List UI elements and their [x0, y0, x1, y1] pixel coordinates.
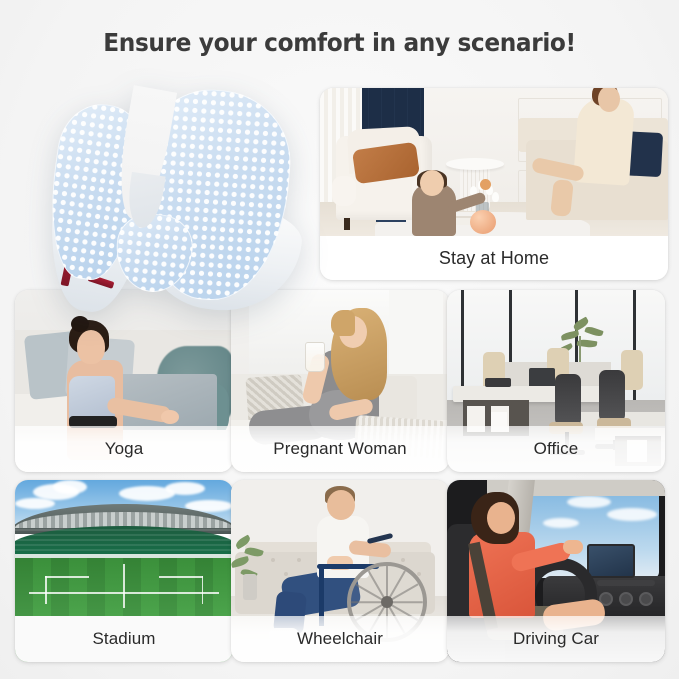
scenario-label-wheelchair: Wheelchair: [231, 616, 449, 662]
scenario-card-wheelchair[interactable]: Wheelchair: [231, 480, 449, 662]
scenario-label-pregnant-woman: Pregnant Woman: [231, 426, 449, 472]
scenario-label-stadium: Stadium: [15, 616, 233, 662]
product-image-seat-cushion: [44, 82, 294, 314]
scenario-card-stay-at-home[interactable]: Stay at Home: [320, 88, 668, 280]
scenario-label-yoga: Yoga: [15, 426, 233, 472]
scenario-card-pregnant-woman[interactable]: Pregnant Woman: [231, 290, 449, 472]
page-title: Ensure your comfort in any scenario!: [24, 28, 655, 57]
scenario-label-stay-at-home: Stay at Home: [320, 236, 668, 280]
scenario-card-office[interactable]: Office: [447, 290, 665, 472]
scenario-label-driving-car: Driving Car: [447, 616, 665, 662]
scenario-card-yoga[interactable]: Yoga: [15, 290, 233, 472]
scenario-label-office: Office: [447, 426, 665, 472]
scenario-card-stadium[interactable]: Stadium: [15, 480, 233, 662]
scenario-card-driving-car[interactable]: Driving Car: [447, 480, 665, 662]
scenario-photo-stay-at-home: [320, 88, 668, 236]
